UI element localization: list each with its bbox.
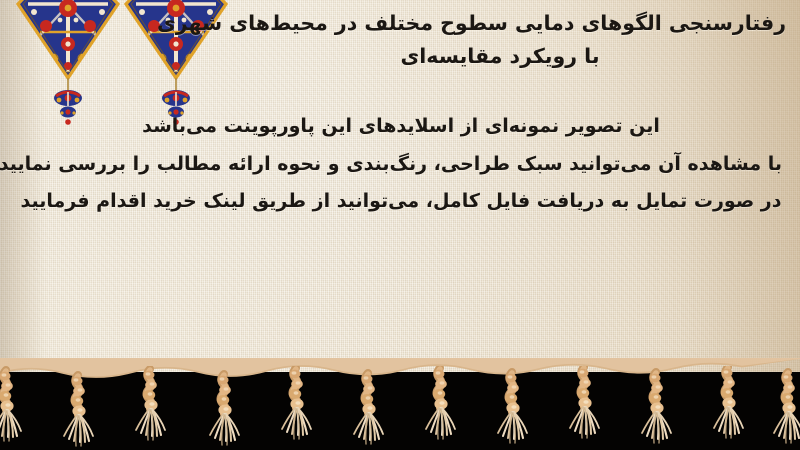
slide-body-text: این تصویر نمونه‌ای از اسلایدهای این پاور… [20,108,782,221]
slide-title: رفتارسنجی الگوهای دمایی سطوح مختلف در مح… [214,7,786,73]
carpet-fringe [0,358,800,450]
slide-title-line-2: با رویکرد مقایسه‌ای [214,40,786,73]
slide-body-line-3: در صورت تمایل به دریافت فایل کامل، می‌تو… [20,183,782,221]
slide-title-line-1: رفتارسنجی الگوهای دمایی سطوح مختلف در مح… [214,7,786,40]
slide-canvas: رفتارسنجی الگوهای دمایی سطوح مختلف در مح… [0,0,800,450]
slide-body-line-1: این تصویر نمونه‌ای از اسلایدهای این پاور… [20,108,782,146]
slide-body-line-2: با مشاهده آن می‌توانید سبک طراحی، رنگ‌بن… [20,146,782,184]
fringe-tassel-row-icon [0,366,800,450]
